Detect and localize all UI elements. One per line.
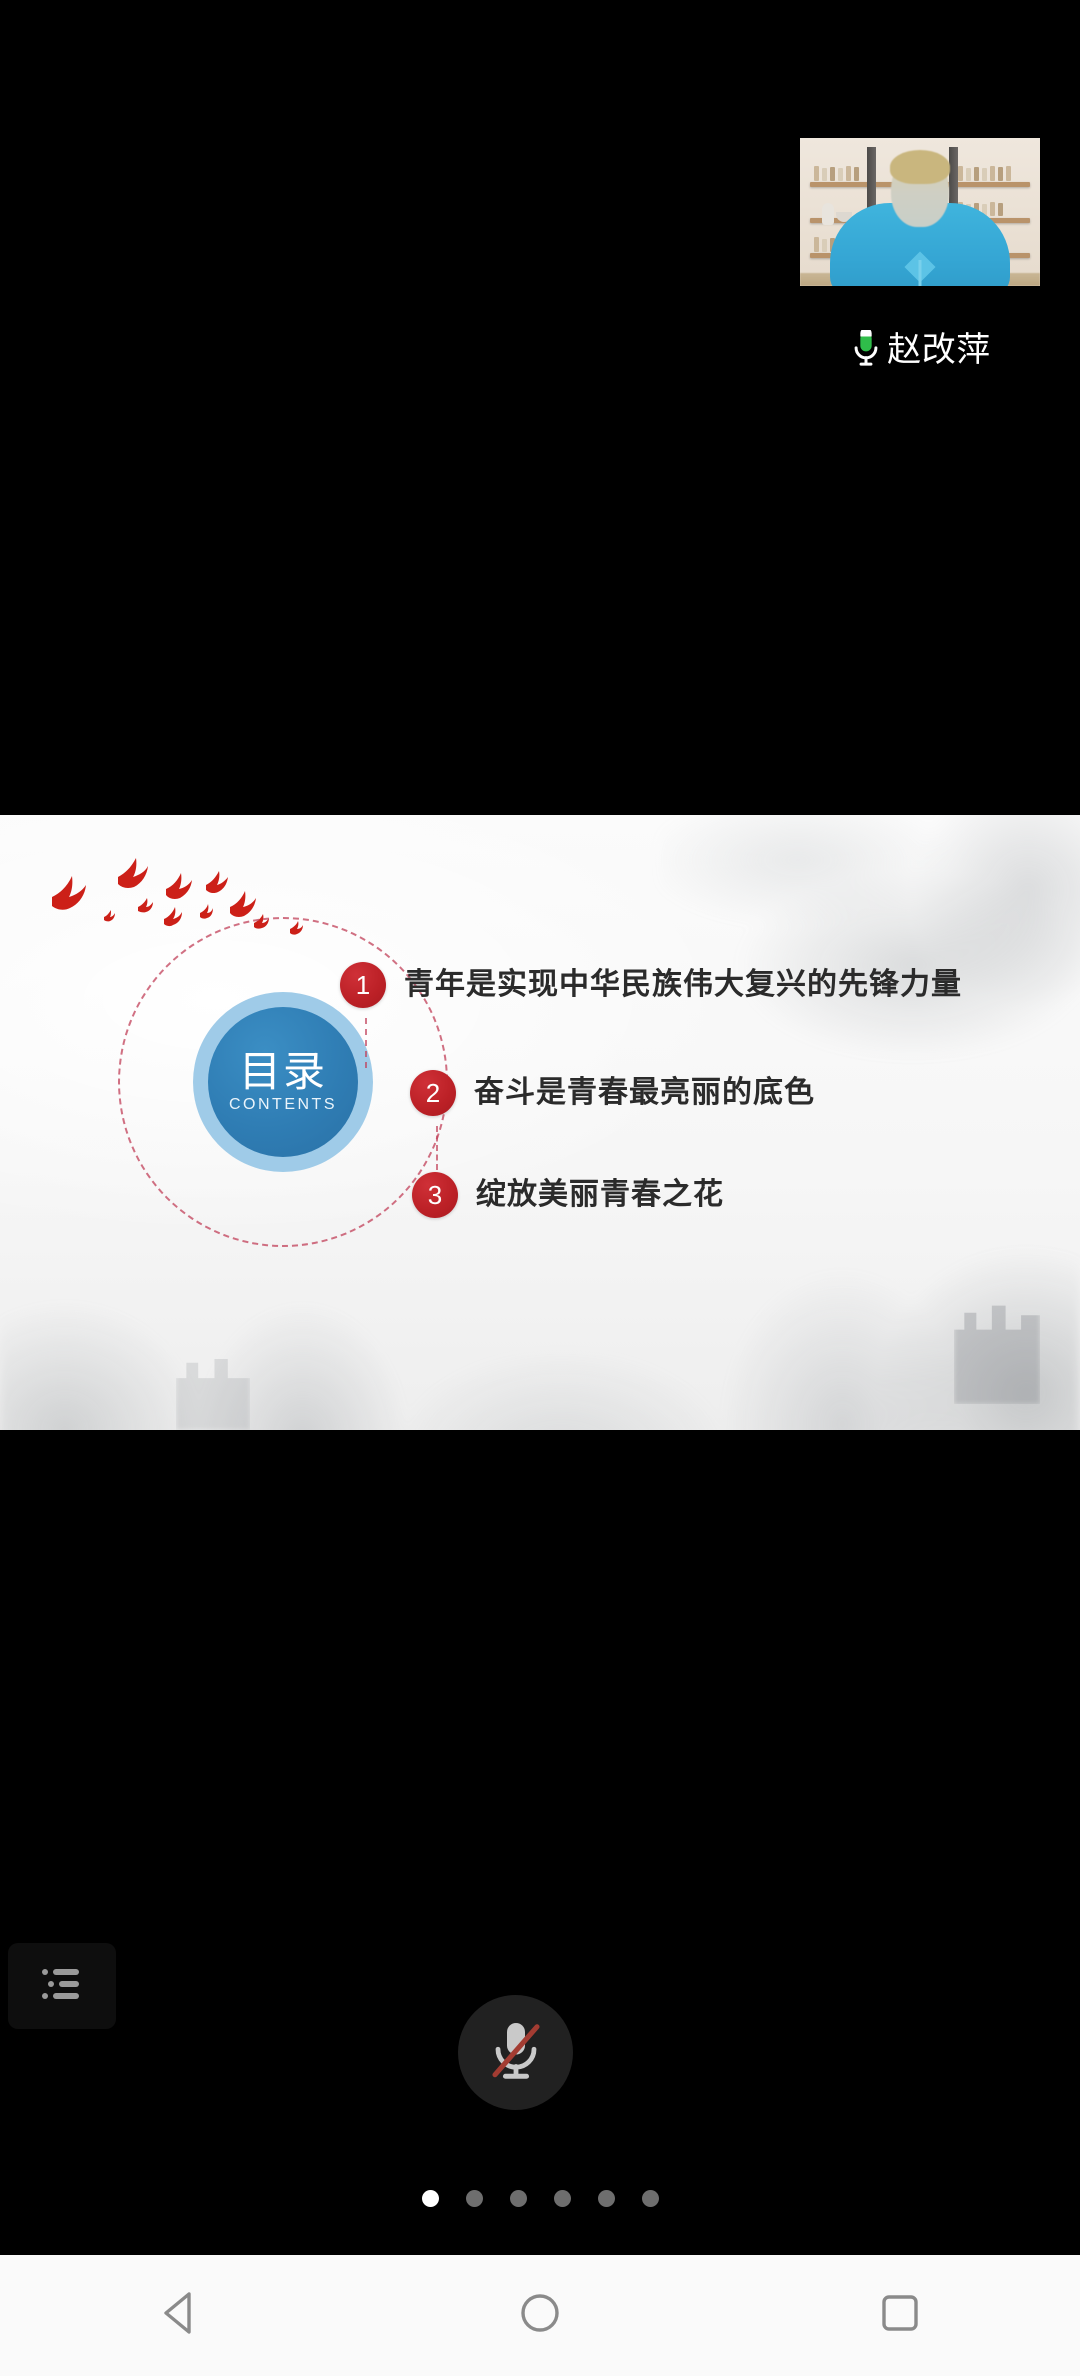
nav-back-button[interactable] [105, 2255, 255, 2376]
meeting-stage: 赵改萍 [0, 0, 1080, 2376]
toc-item-1[interactable]: 1 青年是实现中华民族伟大复兴的先锋力量 [340, 962, 962, 1008]
nav-recents-button[interactable] [825, 2255, 975, 2376]
nav-home-button[interactable] [465, 2255, 615, 2376]
toc-item-label: 青年是实现中华民族伟大复兴的先锋力量 [404, 970, 962, 1000]
page-dot-1[interactable] [422, 2190, 439, 2207]
toc-badge: 3 [412, 1172, 458, 1218]
toc-item-3[interactable]: 3 绽放美丽青春之花 [412, 1172, 724, 1218]
microphone-mute-button[interactable] [458, 1995, 573, 2110]
page-dot-4[interactable] [554, 2190, 571, 2207]
microphone-muted-icon [485, 2017, 547, 2088]
recents-square-icon [877, 2290, 923, 2341]
toc-connector [365, 1018, 367, 1068]
page-dot-3[interactable] [510, 2190, 527, 2207]
toc-item-2[interactable]: 2 奋斗是青春最亮丽的底色 [410, 1070, 815, 1116]
participant-list-button[interactable] [8, 1943, 116, 2029]
page-dot-2[interactable] [466, 2190, 483, 2207]
page-indicator[interactable] [0, 2190, 1080, 2207]
android-navigation-bar [0, 2255, 1080, 2376]
toc-badge: 1 [340, 962, 386, 1008]
toc-item-label: 绽放美丽青春之花 [476, 1180, 724, 1210]
back-triangle-icon [158, 2289, 202, 2342]
toc-item-label: 奋斗是青春最亮丽的底色 [474, 1078, 815, 1108]
page-dot-6[interactable] [642, 2190, 659, 2207]
toc-connector [436, 1126, 438, 1170]
toc-badge: 2 [410, 1070, 456, 1116]
home-circle-icon [516, 2289, 564, 2342]
list-icon [40, 1966, 84, 2007]
page-dot-5[interactable] [598, 2190, 615, 2207]
